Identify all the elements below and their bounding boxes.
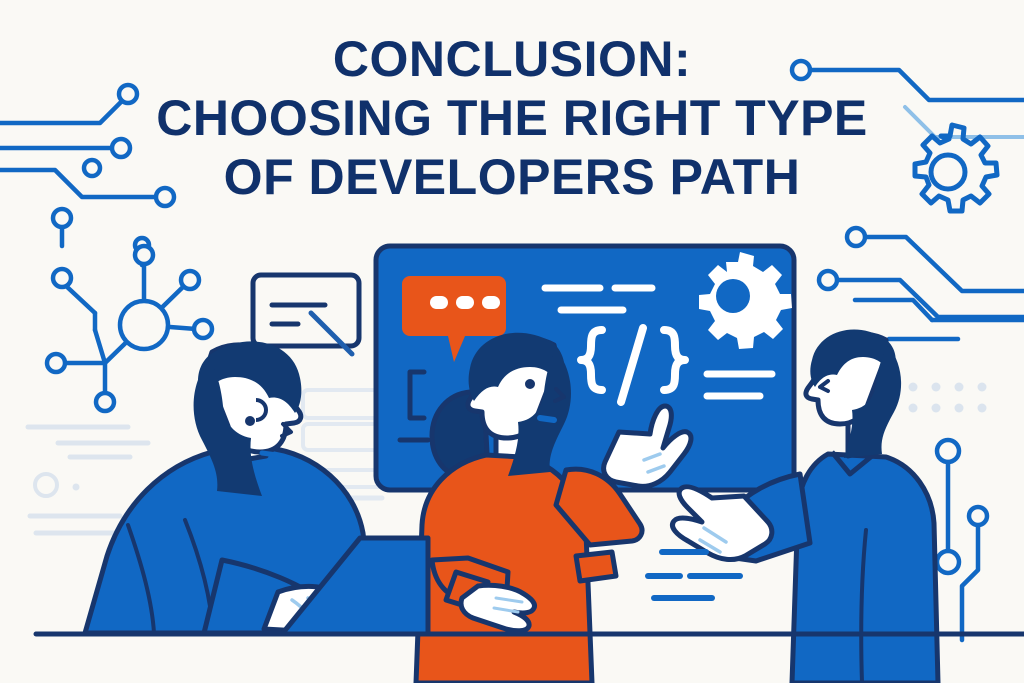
blue-text-lines-center (0, 0, 1024, 683)
illustration-canvas: CONCLUSION: CHOOSING THE RIGHT TYPE OF D… (0, 0, 1024, 683)
